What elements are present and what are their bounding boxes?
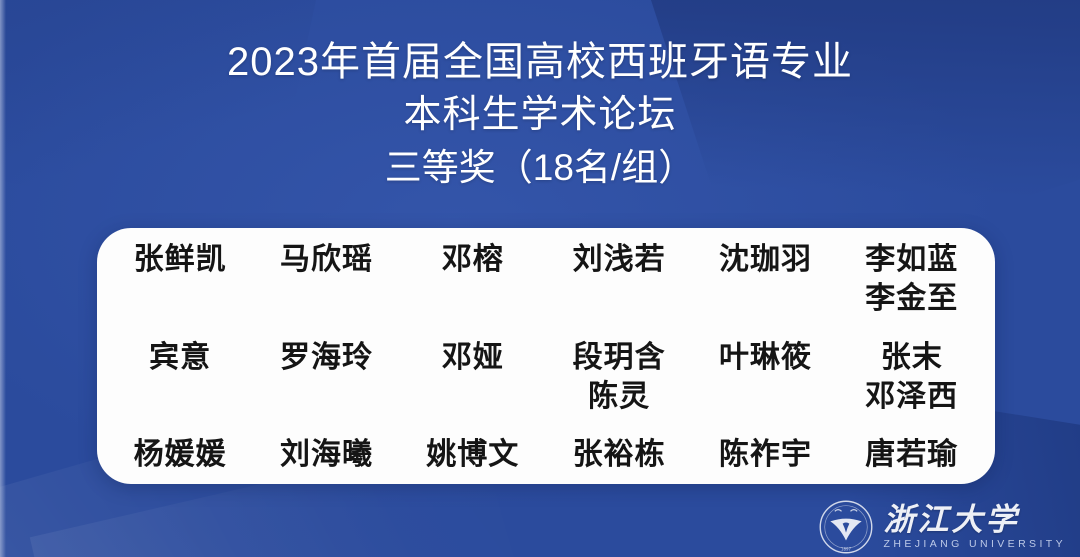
winner-name-card: 张鲜凯 马欣瑶 邓榕 刘浅若 沈珈羽 李如蓝 李金至 bbox=[97, 228, 995, 484]
name-primary: 宾意 bbox=[149, 341, 211, 374]
name-primary: 邓娅 bbox=[442, 341, 504, 374]
name-primary: 张末 bbox=[881, 341, 943, 374]
name-cell: 邓榕 bbox=[400, 240, 546, 279]
name-primary: 沈珈羽 bbox=[719, 243, 812, 276]
name-cell: 张裕栋 bbox=[546, 435, 692, 474]
svg-text:1897: 1897 bbox=[841, 547, 851, 552]
name-secondary: 陈灵 bbox=[546, 377, 692, 416]
name-primary: 刘海曦 bbox=[280, 438, 373, 471]
name-cell: 宾意 bbox=[107, 338, 253, 377]
name-primary: 邓榕 bbox=[442, 243, 504, 276]
award-poster: 2023年首届全国高校西班牙语专业 本科生学术论坛 三等奖（18名/组） 张鲜凯… bbox=[0, 0, 1080, 557]
name-primary: 叶琳筱 bbox=[719, 341, 812, 374]
name-secondary: 邓泽西 bbox=[839, 377, 985, 416]
poster-title-line-1: 2023年首届全国高校西班牙语专业 bbox=[0, 36, 1080, 88]
poster-header: 2023年首届全国高校西班牙语专业 本科生学术论坛 三等奖（18名/组） bbox=[0, 36, 1080, 194]
name-row: 杨媛媛 刘海曦 姚博文 张裕栋 陈祚宇 唐若瑜 bbox=[107, 435, 985, 474]
poster-title-line-2: 本科生学术论坛 bbox=[0, 88, 1080, 142]
name-primary: 杨媛媛 bbox=[134, 438, 227, 471]
name-row: 宾意 罗海玲 邓娅 段玥含 陈灵 叶琳筱 张末 邓泽西 bbox=[107, 338, 985, 416]
name-cell: 马欣瑶 bbox=[253, 240, 399, 279]
name-secondary: 李金至 bbox=[839, 279, 985, 318]
name-cell: 刘海曦 bbox=[253, 435, 399, 474]
name-cell: 刘浅若 bbox=[546, 240, 692, 279]
logo-name-cn: 浙江大学 bbox=[884, 504, 1020, 535]
name-primary: 马欣瑶 bbox=[280, 243, 373, 276]
name-primary: 段玥含 bbox=[573, 341, 666, 374]
name-cell: 罗海玲 bbox=[253, 338, 399, 377]
name-cell: 叶琳筱 bbox=[692, 338, 838, 377]
name-primary: 刘浅若 bbox=[573, 243, 666, 276]
name-primary: 唐若瑜 bbox=[865, 438, 958, 471]
name-cell: 张末 邓泽西 bbox=[839, 338, 985, 416]
name-cell: 陈祚宇 bbox=[692, 435, 838, 474]
university-logo: 1897 浙江大学 ZHEJIANG UNIVERSITY bbox=[818, 499, 1066, 555]
name-primary: 张鲜凯 bbox=[134, 243, 227, 276]
name-row: 张鲜凯 马欣瑶 邓榕 刘浅若 沈珈羽 李如蓝 李金至 bbox=[107, 240, 985, 318]
name-cell: 沈珈羽 bbox=[692, 240, 838, 279]
name-primary: 张裕栋 bbox=[573, 438, 666, 471]
name-cell: 杨媛媛 bbox=[107, 435, 253, 474]
name-primary: 罗海玲 bbox=[280, 341, 373, 374]
name-cell: 段玥含 陈灵 bbox=[546, 338, 692, 416]
award-category-label: 三等奖（18名/组） bbox=[0, 142, 1080, 194]
name-cell: 姚博文 bbox=[400, 435, 546, 474]
name-cell: 唐若瑜 bbox=[839, 435, 985, 474]
name-cell: 李如蓝 李金至 bbox=[839, 240, 985, 318]
logo-text: 浙江大学 ZHEJIANG UNIVERSITY bbox=[884, 504, 1066, 550]
name-primary: 李如蓝 bbox=[865, 243, 958, 276]
name-primary: 陈祚宇 bbox=[719, 438, 812, 471]
logo-name-en: ZHEJIANG UNIVERSITY bbox=[884, 539, 1066, 550]
name-primary: 姚博文 bbox=[426, 438, 519, 471]
name-cell: 张鲜凯 bbox=[107, 240, 253, 279]
zhejiang-university-emblem-icon: 1897 bbox=[818, 499, 874, 555]
name-cell: 邓娅 bbox=[400, 338, 546, 377]
